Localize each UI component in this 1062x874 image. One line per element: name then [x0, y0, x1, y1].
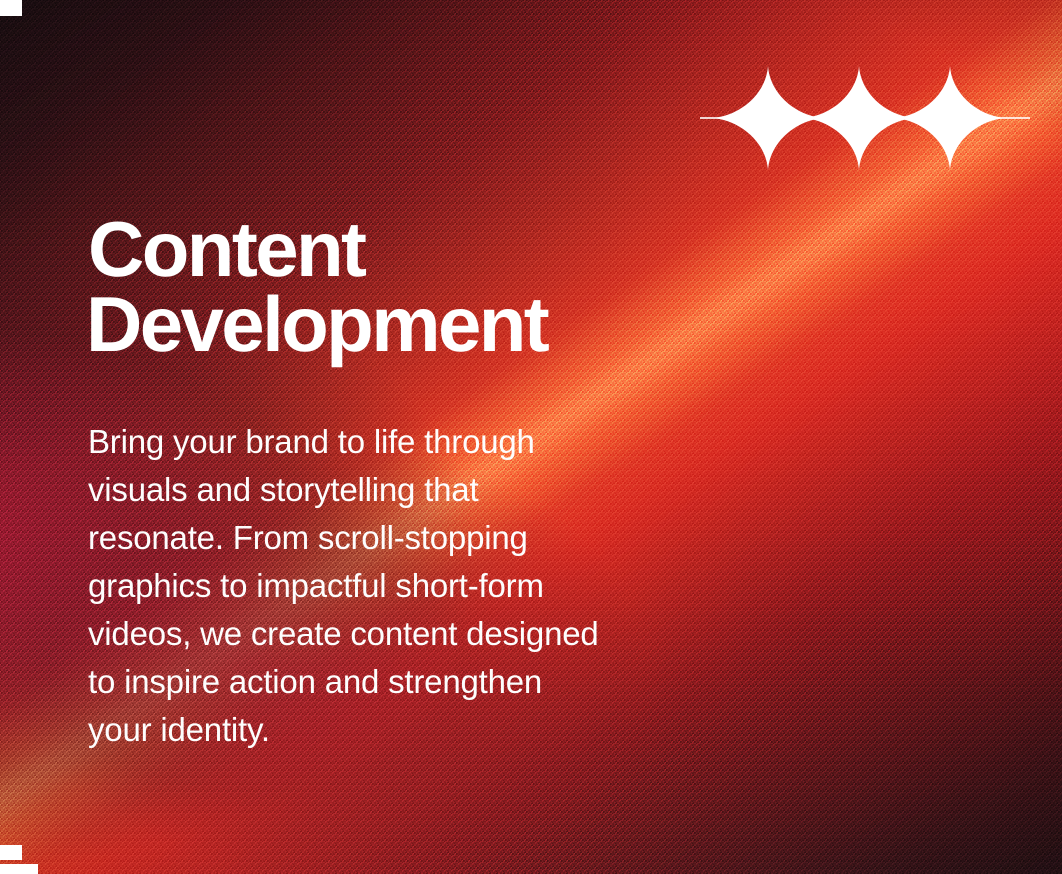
page-title: Content Development: [88, 0, 968, 362]
poster-canvas: Content Development Bring your brand to …: [0, 0, 1062, 874]
page-title-line-2: Development: [86, 287, 968, 362]
page-title-line-1: Content: [88, 212, 968, 287]
body-line-7: your identity.: [88, 706, 848, 754]
body-paragraph: Bring your brand to life through visuals…: [88, 362, 848, 754]
corner-notch-top-left: [0, 0, 22, 16]
text-content-block: Content Development Bring your brand to …: [88, 0, 968, 754]
body-line-1: Bring your brand to life through: [88, 418, 848, 466]
corner-notch-bottom-left: [0, 864, 38, 874]
body-line-6: to inspire action and strengthen: [88, 658, 848, 706]
body-line-5: videos, we create content designed: [88, 610, 848, 658]
body-line-4: graphics to impactful short-form: [88, 562, 848, 610]
body-line-2: visuals and storytelling that: [88, 466, 848, 514]
body-line-3: resonate. From scroll-stopping: [88, 514, 848, 562]
corner-notch-bottom-left-up: [0, 845, 22, 860]
